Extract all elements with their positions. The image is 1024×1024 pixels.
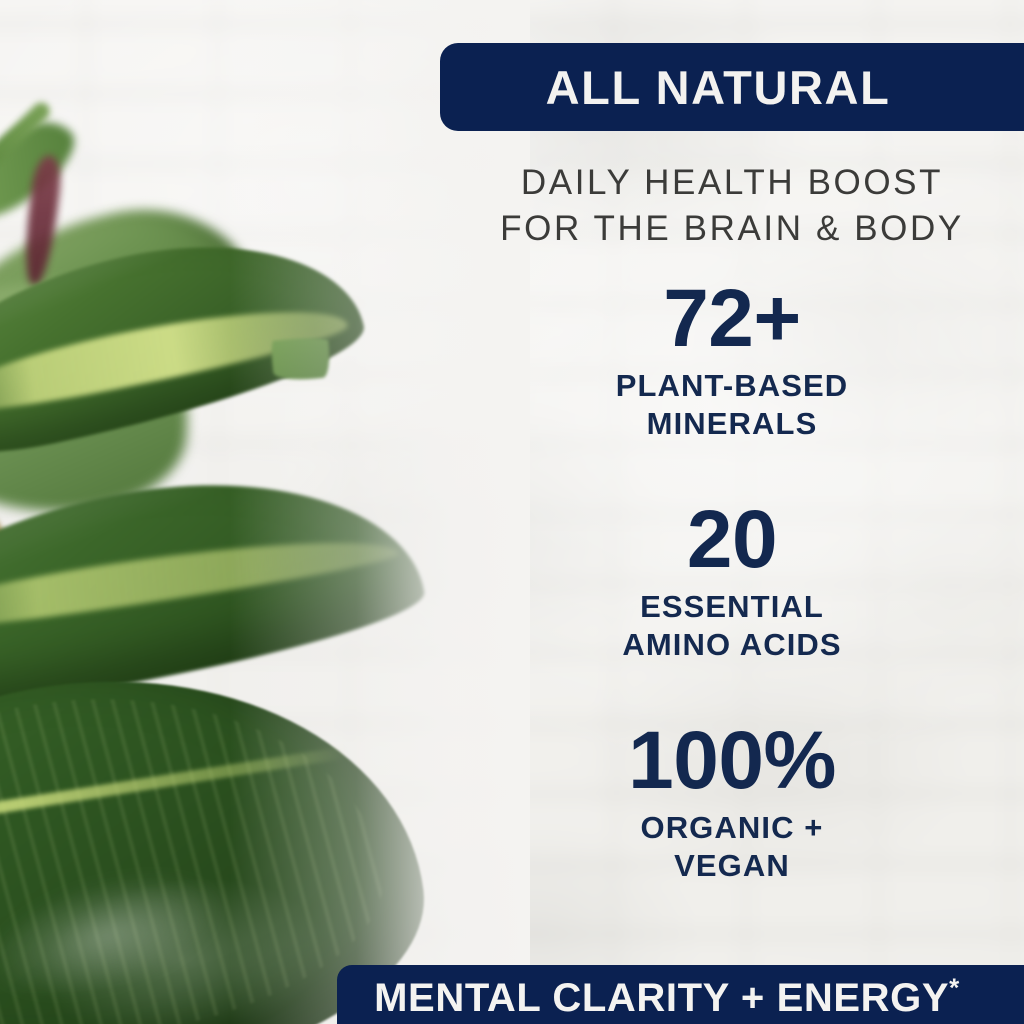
stat-caption: ORGANIC + VEGAN (440, 809, 1024, 885)
stat-block-organic-vegan: 100% ORGANIC + VEGAN (440, 718, 1024, 885)
subtitle-block: DAILY HEALTH BOOST FOR THE BRAIN & BODY (440, 160, 1024, 252)
stat-caption: PLANT-BASED MINERALS (440, 367, 1024, 443)
stat-caption: ESSENTIAL AMINO ACIDS (440, 588, 1024, 664)
mental-clarity-banner: MENTAL CLARITY + ENERGY* (337, 965, 1024, 1024)
infographic-canvas: ALL NATURAL DAILY HEALTH BOOST FOR THE B… (0, 0, 1024, 1024)
stat-caption-line-1: ESSENTIAL (440, 588, 1024, 626)
stat-caption-line-2: MINERALS (440, 405, 1024, 443)
stat-caption-line-1: PLANT-BASED (440, 367, 1024, 405)
stat-block-amino-acids: 20 ESSENTIAL AMINO ACIDS (440, 497, 1024, 664)
mental-clarity-text: MENTAL CLARITY + ENERGY (374, 976, 949, 1020)
subtitle-line-2: FOR THE BRAIN & BODY (440, 206, 1024, 252)
all-natural-banner-label: ALL NATURAL (546, 64, 891, 111)
stat-block-minerals: 72+ PLANT-BASED MINERALS (440, 276, 1024, 443)
content-layer: ALL NATURAL DAILY HEALTH BOOST FOR THE B… (0, 0, 1024, 1024)
mental-clarity-banner-label: MENTAL CLARITY + ENERGY* (374, 978, 960, 1018)
stat-number: 72+ (440, 276, 1024, 361)
stat-caption-line-2: AMINO ACIDS (440, 626, 1024, 664)
footnote-asterisk: * (949, 973, 960, 1003)
subtitle-line-1: DAILY HEALTH BOOST (440, 160, 1024, 206)
stats-list: 72+ PLANT-BASED MINERALS 20 ESSENTIAL AM… (440, 276, 1024, 885)
stat-number: 100% (440, 718, 1024, 803)
all-natural-banner: ALL NATURAL (440, 43, 1024, 131)
stat-caption-line-2: VEGAN (440, 847, 1024, 885)
stat-caption-line-1: ORGANIC + (440, 809, 1024, 847)
stat-number: 20 (440, 497, 1024, 582)
